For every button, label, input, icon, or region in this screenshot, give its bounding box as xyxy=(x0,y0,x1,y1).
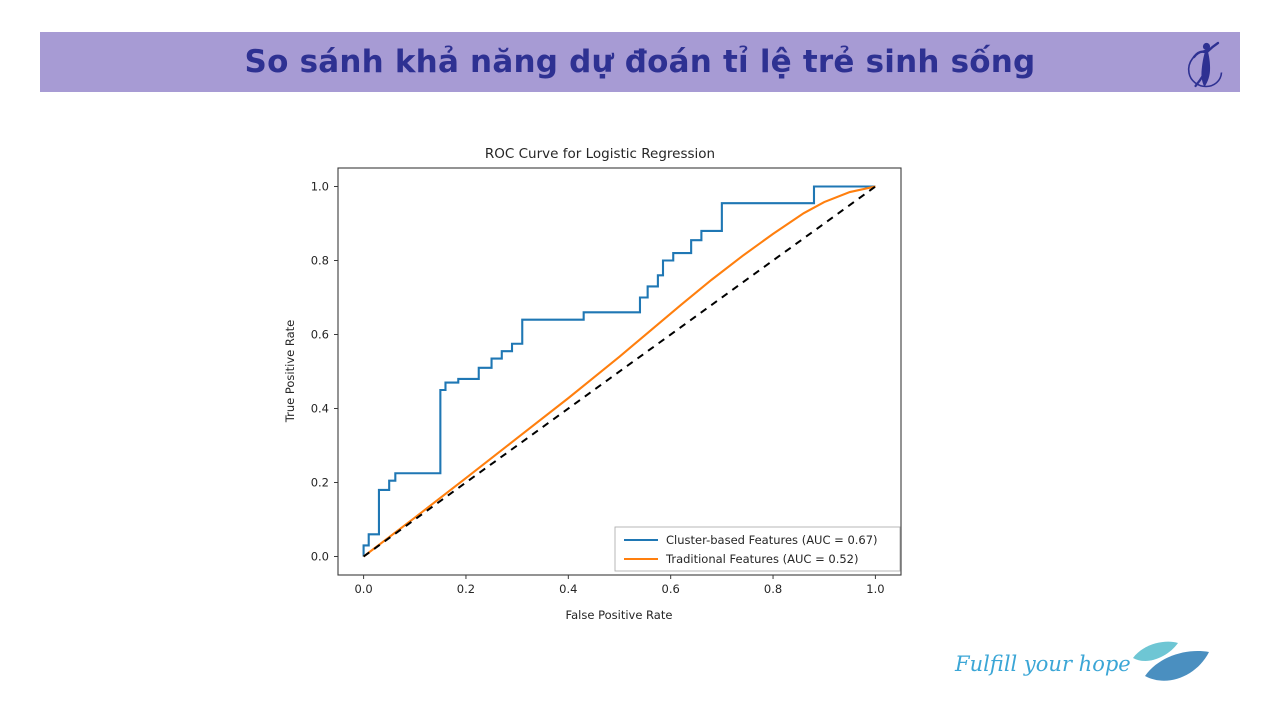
dancing-figure-logo-icon xyxy=(1178,36,1230,90)
footer-brand: Fulfill your hope xyxy=(955,636,1225,700)
legend-label-traditional: Traditional Features (AUC = 0.52) xyxy=(665,552,858,566)
roc-curve-figure: ROC Curve for Logistic Regression 0.00.2… xyxy=(278,138,922,628)
chart-legend: Cluster-based Features (AUC = 0.67) Trad… xyxy=(615,527,900,571)
x-tick-label: 0.4 xyxy=(559,582,577,596)
roc-curve-plot: ROC Curve for Logistic Regression 0.00.2… xyxy=(278,138,922,628)
slide-title-banner: So sánh khả năng dự đoán tỉ lệ trẻ sinh … xyxy=(40,32,1240,92)
x-tick-label: 0.8 xyxy=(764,582,782,596)
footer-tagline: Fulfill your hope xyxy=(955,652,1131,676)
x-tick-label: 0.0 xyxy=(354,582,372,596)
y-tick-label: 0.0 xyxy=(311,550,329,564)
x-axis-ticks: 0.00.20.40.60.81.0 xyxy=(354,575,884,596)
x-axis-label: False Positive Rate xyxy=(566,608,673,622)
x-tick-label: 0.2 xyxy=(457,582,475,596)
x-tick-label: 1.0 xyxy=(866,582,884,596)
y-tick-label: 0.4 xyxy=(311,402,329,416)
two-leaves-icon xyxy=(1121,636,1221,692)
x-tick-label: 0.6 xyxy=(662,582,680,596)
y-axis-label: True Positive Rate xyxy=(283,320,297,423)
page-title: So sánh khả năng dự đoán tỉ lệ trẻ sinh … xyxy=(245,47,1036,78)
chart-title: ROC Curve for Logistic Regression xyxy=(485,146,715,162)
y-tick-label: 0.8 xyxy=(311,254,329,268)
legend-label-cluster: Cluster-based Features (AUC = 0.67) xyxy=(666,533,878,547)
y-axis-ticks: 0.00.20.40.60.81.0 xyxy=(311,180,338,564)
y-tick-label: 0.2 xyxy=(311,476,329,490)
y-tick-label: 0.6 xyxy=(311,328,329,342)
y-tick-label: 1.0 xyxy=(311,180,329,194)
